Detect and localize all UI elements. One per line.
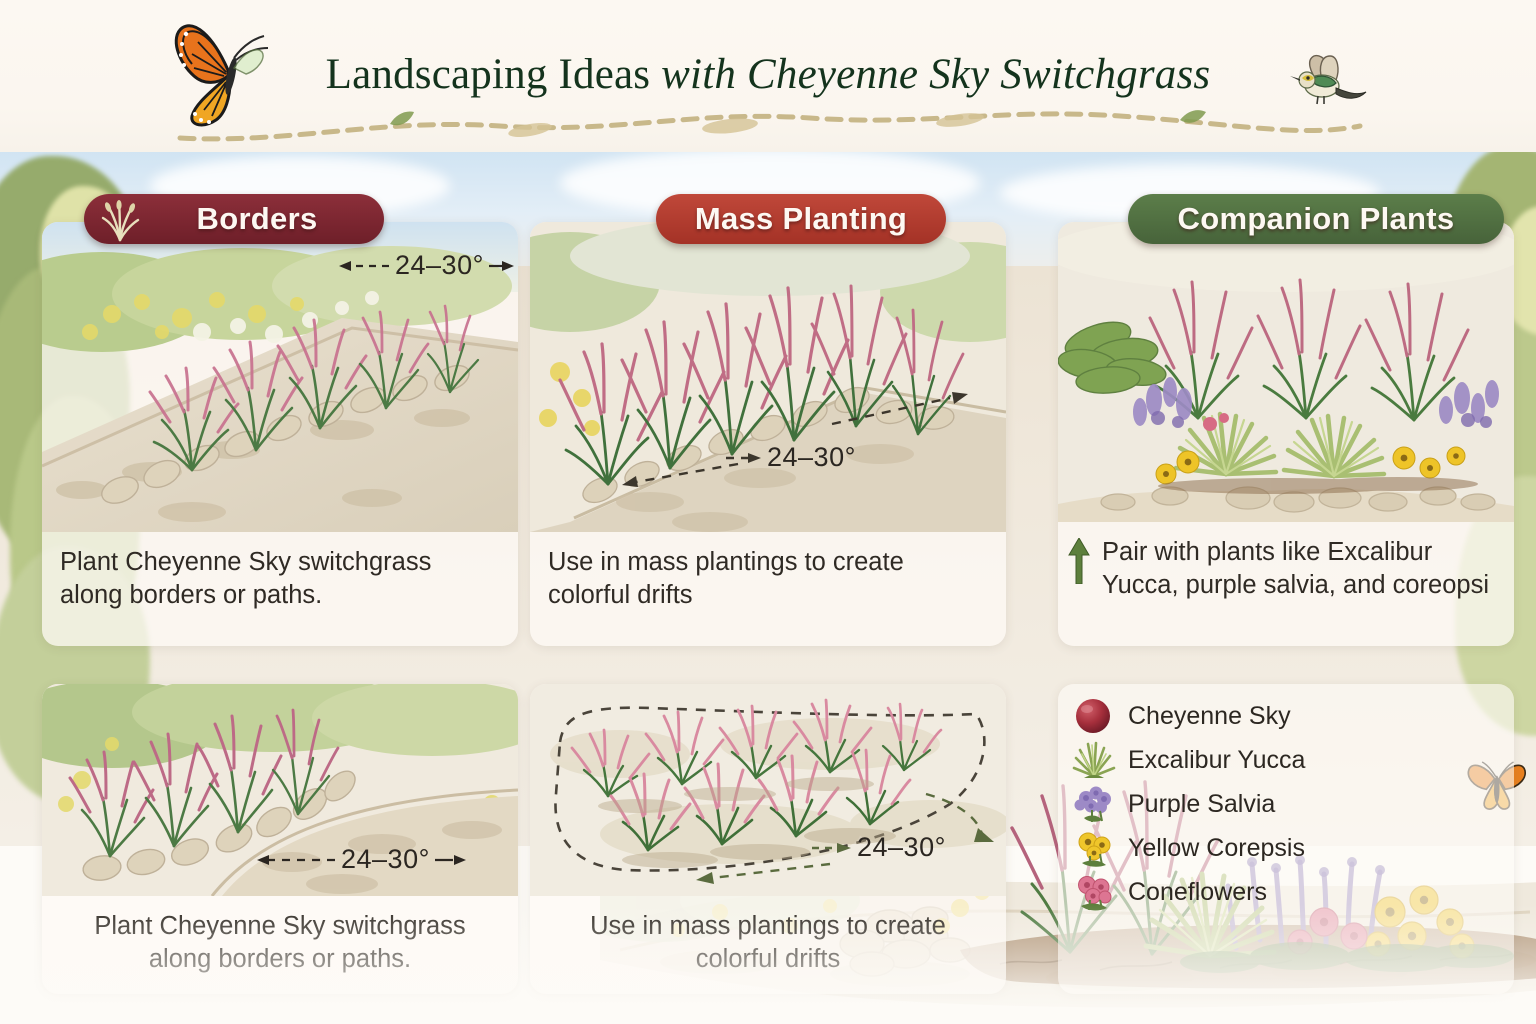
arrow-left-dashed-icon [692, 860, 832, 886]
red-sphere-icon [1072, 696, 1116, 736]
pink-coneflower-icon [1072, 872, 1116, 912]
yellow-flower-icon [1072, 828, 1116, 868]
card-borders-top[interactable]: 24–30° Plant Cheyenne Sky switchgrass al… [42, 222, 518, 646]
legend-item[interactable]: Coneflowers [1072, 870, 1500, 914]
dimension-value: 24–30° [767, 442, 856, 473]
card-companion-legend[interactable]: Cheyenne Sky Excalibur Yucca [1058, 684, 1514, 994]
illustration-companion-border [1058, 222, 1514, 522]
card-mass-planting-bottom[interactable]: 24–30° Use in mass plantings to create c… [530, 684, 1006, 994]
card-companion-top[interactable]: Pair with plants like Excalibur Yucca, p… [1058, 222, 1514, 646]
caption-borders-top: Plant Cheyenne Sky switchgrass along bor… [42, 532, 518, 627]
legend-item[interactable]: Excalibur Yucca [1072, 738, 1500, 782]
section-pill-companion-plants-label: Companion Plants [1178, 201, 1455, 237]
arrow-right-dashed-icon [812, 841, 852, 855]
companion-pair-text-value: Pair with plants like Excalibur Yucca, p… [1102, 538, 1489, 599]
yucca-rosette-icon [1072, 740, 1116, 780]
arrow-left-dashed-icon [338, 259, 390, 273]
up-arrow-icon [1068, 538, 1090, 584]
arrow-right-icon [435, 853, 467, 867]
section-pill-mass-planting-label: Mass Planting [695, 201, 907, 237]
card-mass-planting-top[interactable]: 24–30° Use in mass plantings to create c… [530, 222, 1006, 646]
caption-borders-bottom: Plant Cheyenne Sky switchgrass along bor… [42, 896, 518, 991]
arrow-right-icon [489, 259, 515, 273]
dimension-value: 24–30° [857, 832, 946, 863]
section-pill-borders-label: Borders [197, 201, 318, 237]
card-borders-bottom[interactable]: 24–30° Plant Cheyenne Sky switchgrass al… [42, 684, 518, 994]
section-pill-borders[interactable]: Borders [84, 194, 384, 244]
arrow-right-dashed-icon [830, 390, 970, 430]
legend-label: Purple Salvia [1128, 790, 1275, 819]
illustration-curved-border: 24–30° [42, 684, 518, 896]
columns-container: Borders [0, 146, 1536, 866]
legend-label: Yellow Corepsis [1128, 834, 1305, 863]
section-pill-companion-plants[interactable]: Companion Plants [1128, 194, 1504, 244]
arrow-right-dashed-icon [726, 451, 762, 465]
decorative-swoosh [170, 104, 1370, 148]
illustration-drift-planting: 24–30° [530, 684, 1006, 896]
plant-legend: Cheyenne Sky Excalibur Yucca [1058, 684, 1514, 928]
legend-label: Cheyenne Sky [1128, 702, 1291, 731]
dimension-value: 24–30° [341, 844, 430, 875]
illustration-border-planting: 24–30° [42, 222, 518, 532]
caption-mass-top-text: Use in mass plantings to create colorful… [548, 548, 904, 609]
legend-item[interactable]: Cheyenne Sky [1072, 694, 1500, 738]
section-pill-mass-planting[interactable]: Mass Planting [656, 194, 946, 244]
legend-item[interactable]: Yellow Corepsis [1072, 826, 1500, 870]
caption-mass-top: Use in mass plantings to create colorful… [530, 532, 1006, 627]
dimension-label-borders-bottom: 24–30° [256, 844, 467, 875]
dimension-label-mass-top: 24–30° [726, 442, 856, 473]
arrow-left-dashed-icon [620, 458, 740, 490]
infographic-canvas: Landscaping Ideas with Cheyenne Sky Swit… [0, 0, 1536, 1024]
header-banner: Landscaping Ideas with Cheyenne Sky Swit… [0, 0, 1536, 152]
legend-label: Coneflowers [1128, 878, 1267, 907]
grass-clump-icon [98, 198, 142, 242]
dimension-label-mass-bottom: 24–30° [812, 832, 946, 863]
caption-mass-bottom: Use in mass plantings to create colorful… [530, 896, 1006, 991]
dimension-label-borders-top: 24–30° [338, 250, 515, 281]
title-main: Landscaping Ideas [326, 51, 662, 98]
dimension-value: 24–30° [395, 250, 484, 281]
purple-flower-cluster-icon [1072, 784, 1116, 824]
illustration-mass-planting-row: 24–30° [530, 222, 1006, 532]
title-italic: with Cheyenne Sky Switchgrass [661, 51, 1210, 98]
companion-pair-text: Pair with plants like Excalibur Yucca, p… [1058, 522, 1514, 616]
legend-item[interactable]: Purple Salvia [1072, 782, 1500, 826]
legend-label: Excalibur Yucca [1128, 746, 1305, 775]
arrow-left-dashed-icon [256, 853, 336, 867]
